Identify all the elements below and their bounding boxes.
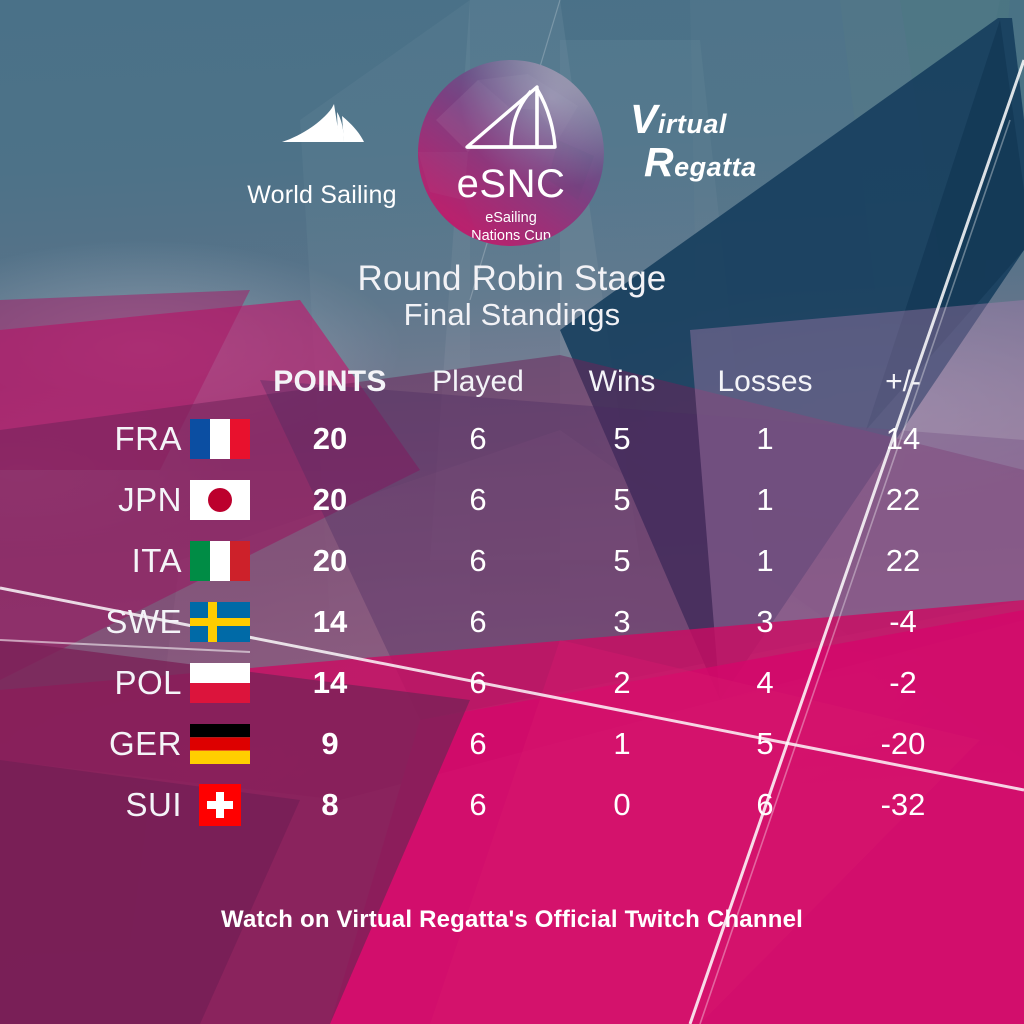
country-code: SUI xyxy=(0,774,182,835)
column-header-losses: Losses xyxy=(705,356,825,408)
plusminus-value: 14 xyxy=(843,408,963,469)
plusminus-value: 22 xyxy=(843,530,963,591)
vr-r-cap: R xyxy=(644,139,674,185)
table-row: JPN 20 6 5 1 22 xyxy=(0,469,1024,530)
country-code: GER xyxy=(0,713,182,774)
page-title: Round Robin Stage xyxy=(0,260,1024,298)
losses-value: 3 xyxy=(705,591,825,652)
vr-line2-rest: egatta xyxy=(674,152,757,182)
plusminus-value: -2 xyxy=(843,652,963,713)
table-row: GER 9 6 1 5 -20 xyxy=(0,713,1024,774)
wins-value: 3 xyxy=(562,591,682,652)
esnc-subtitle-line2: Nations Cup xyxy=(471,228,551,244)
plusminus-value: -4 xyxy=(843,591,963,652)
losses-value: 1 xyxy=(705,408,825,469)
flag-poland xyxy=(190,663,250,703)
standings-table: POINTS Played Wins Losses +/- FRA 20 6 5… xyxy=(0,356,1024,835)
flag-italy xyxy=(190,541,250,581)
table-row: FRA 20 6 5 1 14 xyxy=(0,408,1024,469)
esnc-subtitle-line1: eSailing xyxy=(485,210,537,226)
flag-switzerland xyxy=(199,784,241,826)
standings-graphic: World Sailing xyxy=(0,0,1024,1024)
vr-line1-rest: irtual xyxy=(658,109,727,139)
played-value: 6 xyxy=(418,530,538,591)
losses-value: 5 xyxy=(705,713,825,774)
plusminus-value: 22 xyxy=(843,469,963,530)
table-row: SUI 8 6 0 6 -32 xyxy=(0,774,1024,835)
played-value: 6 xyxy=(418,713,538,774)
virtual-regatta-line1: Virtual xyxy=(630,100,810,139)
table-row: POL 14 6 2 4 -2 xyxy=(0,652,1024,713)
points-value: 20 xyxy=(270,530,390,591)
table-row: SWE 14 6 3 3 -4 xyxy=(0,591,1024,652)
stage-headings: Round Robin Stage Final Standings xyxy=(0,260,1024,333)
country-code: POL xyxy=(0,652,182,713)
losses-value: 1 xyxy=(705,530,825,591)
esnc-logo: eSNC eSailing Nations Cup xyxy=(418,60,604,246)
world-sailing-sail-icon xyxy=(274,102,370,174)
logo-row: World Sailing xyxy=(0,34,1024,234)
points-value: 9 xyxy=(270,713,390,774)
wins-value: 0 xyxy=(562,774,682,835)
flag-japan xyxy=(190,480,250,520)
points-value: 20 xyxy=(270,469,390,530)
plusminus-value: -20 xyxy=(843,713,963,774)
country-code: FRA xyxy=(0,408,182,469)
wins-value: 5 xyxy=(562,408,682,469)
column-header-plusminus: +/- xyxy=(843,356,963,408)
losses-value: 1 xyxy=(705,469,825,530)
flag-germany xyxy=(190,724,250,764)
country-code: SWE xyxy=(0,591,182,652)
wins-value: 1 xyxy=(562,713,682,774)
column-header-played: Played xyxy=(418,356,538,408)
esnc-abbrev: eSNC xyxy=(457,164,566,204)
virtual-regatta-line2: Regatta xyxy=(644,143,810,182)
losses-value: 6 xyxy=(705,774,825,835)
flag-france xyxy=(190,419,250,459)
wins-value: 5 xyxy=(562,469,682,530)
wins-value: 2 xyxy=(562,652,682,713)
played-value: 6 xyxy=(418,469,538,530)
points-value: 14 xyxy=(270,652,390,713)
column-header-wins: Wins xyxy=(562,356,682,408)
column-header-points: POINTS xyxy=(270,356,390,408)
twitch-callout: Watch on Virtual Regatta's Official Twit… xyxy=(0,906,1024,934)
country-code: JPN xyxy=(0,469,182,530)
points-value: 14 xyxy=(270,591,390,652)
played-value: 6 xyxy=(418,591,538,652)
world-sailing-logo: World Sailing xyxy=(238,86,406,210)
country-code: ITA xyxy=(0,530,182,591)
table-header-row: POINTS Played Wins Losses +/- xyxy=(0,356,1024,408)
played-value: 6 xyxy=(418,408,538,469)
played-value: 6 xyxy=(418,774,538,835)
esnc-subtitle: eSailing Nations Cup xyxy=(471,210,551,245)
table-row: ITA 20 6 5 1 22 xyxy=(0,530,1024,591)
points-value: 8 xyxy=(270,774,390,835)
played-value: 6 xyxy=(418,652,538,713)
virtual-regatta-logo: Virtual Regatta xyxy=(630,100,810,190)
plusminus-value: -32 xyxy=(843,774,963,835)
wins-value: 5 xyxy=(562,530,682,591)
esnc-sail-icon xyxy=(461,83,561,159)
world-sailing-wordmark: World Sailing xyxy=(247,181,396,210)
vr-v-cap: V xyxy=(630,96,658,142)
losses-value: 4 xyxy=(705,652,825,713)
page-subtitle: Final Standings xyxy=(0,298,1024,333)
points-value: 20 xyxy=(270,408,390,469)
flag-sweden xyxy=(190,602,250,642)
